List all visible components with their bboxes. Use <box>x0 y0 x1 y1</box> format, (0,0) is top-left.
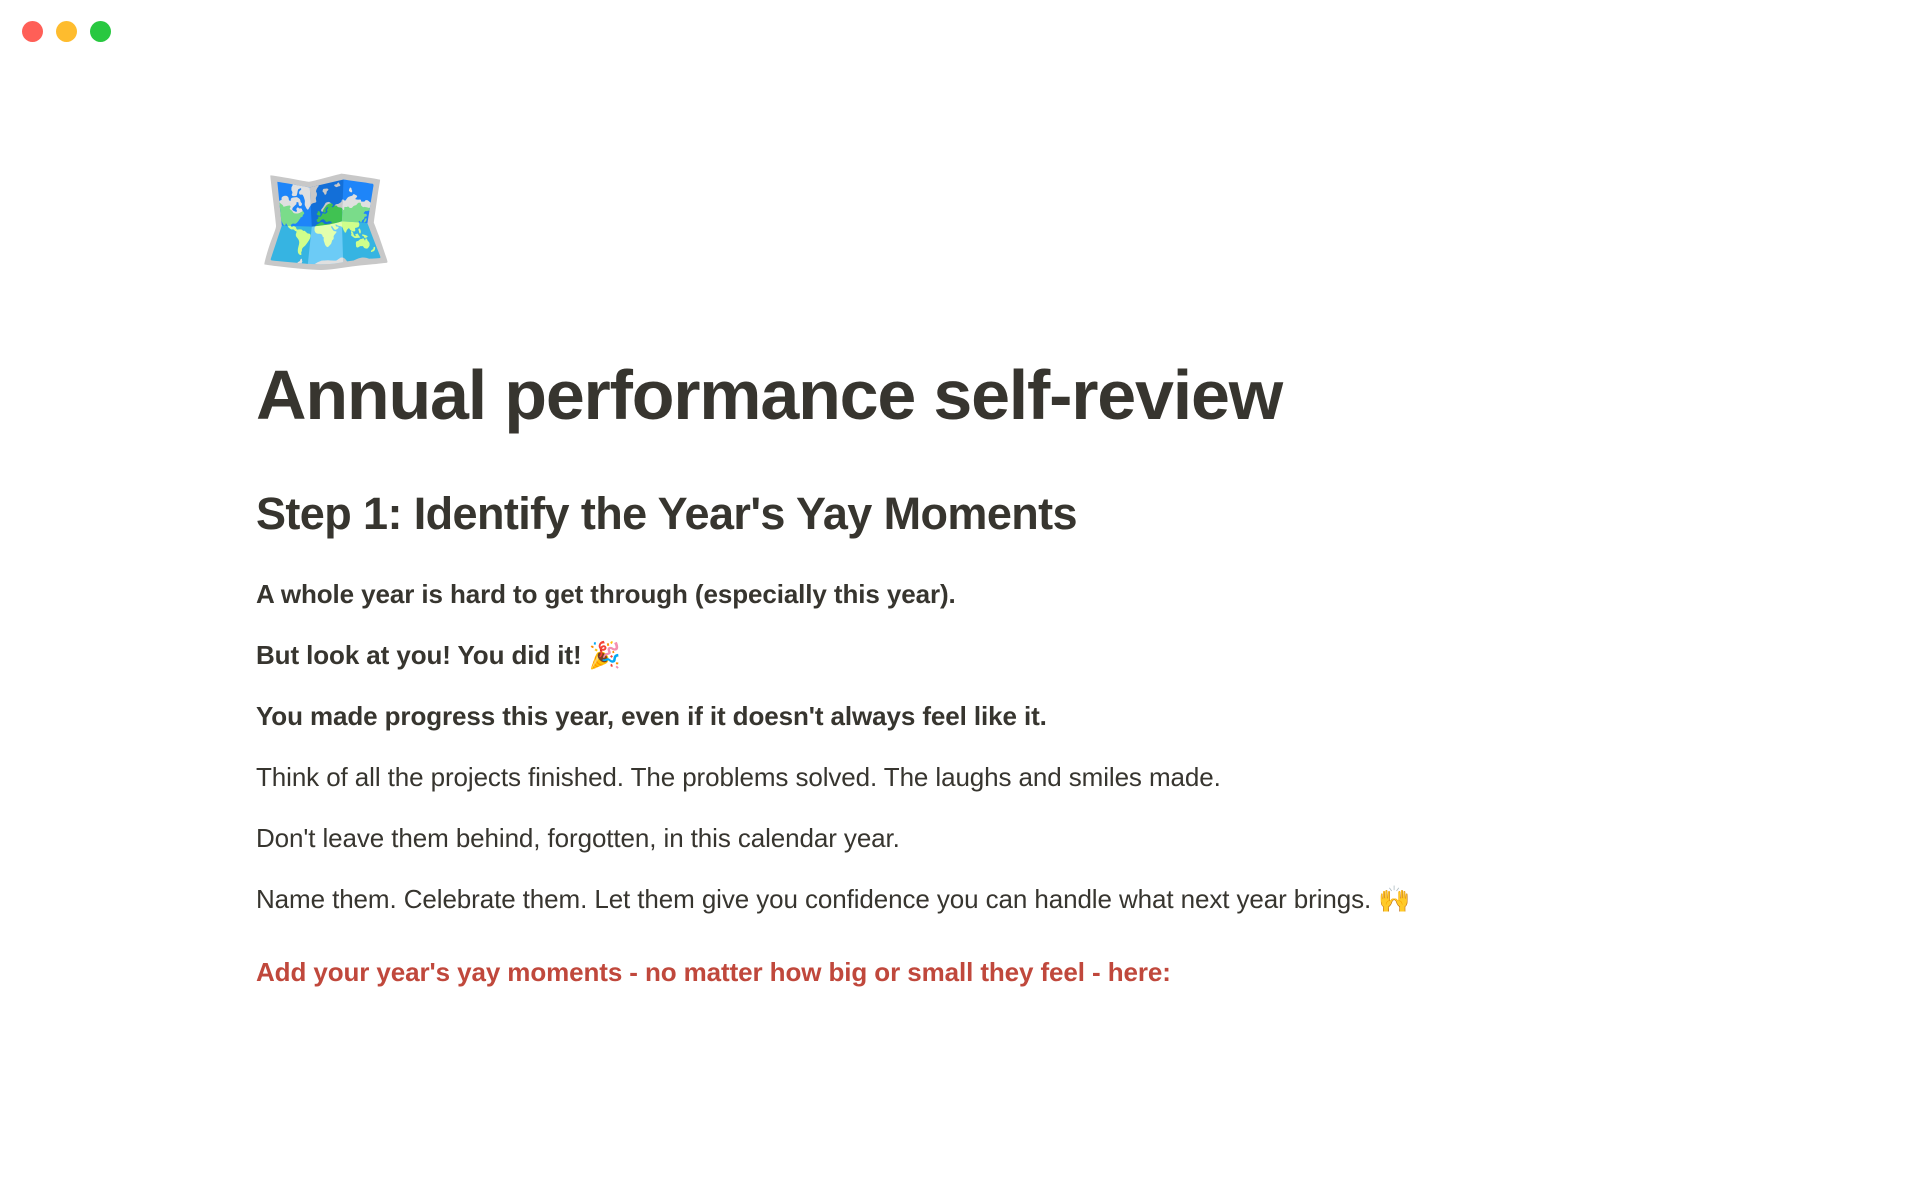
close-window-button[interactable] <box>22 21 43 42</box>
paragraph-2[interactable]: But look at you! You did it! 🎉 <box>256 636 1736 675</box>
maximize-window-button[interactable] <box>90 21 111 42</box>
paragraph-6[interactable]: Name them. Celebrate them. Let them give… <box>256 880 1736 919</box>
window-traffic-lights <box>22 21 111 42</box>
minimize-window-button[interactable] <box>56 21 77 42</box>
page-title[interactable]: Annual performance self-review <box>256 356 1736 434</box>
callout-prompt-text[interactable]: Add your year's yay moments - no matter … <box>256 953 1736 992</box>
world-map-emoji-icon[interactable]: 🗺️ <box>256 166 1736 292</box>
window-title-bar <box>0 0 1920 62</box>
paragraph-1[interactable]: A whole year is hard to get through (esp… <box>256 575 1736 614</box>
paragraph-4[interactable]: Think of all the projects finished. The … <box>256 758 1736 797</box>
document-page: 🗺️ Annual performance self-review Step 1… <box>0 62 1920 1200</box>
heading-step-1[interactable]: Step 1: Identify the Year's Yay Moments <box>256 486 1736 542</box>
document-content-column: 🗺️ Annual performance self-review Step 1… <box>256 62 1736 992</box>
paragraph-3[interactable]: You made progress this year, even if it … <box>256 697 1736 736</box>
paragraph-5[interactable]: Don't leave them behind, forgotten, in t… <box>256 819 1736 858</box>
